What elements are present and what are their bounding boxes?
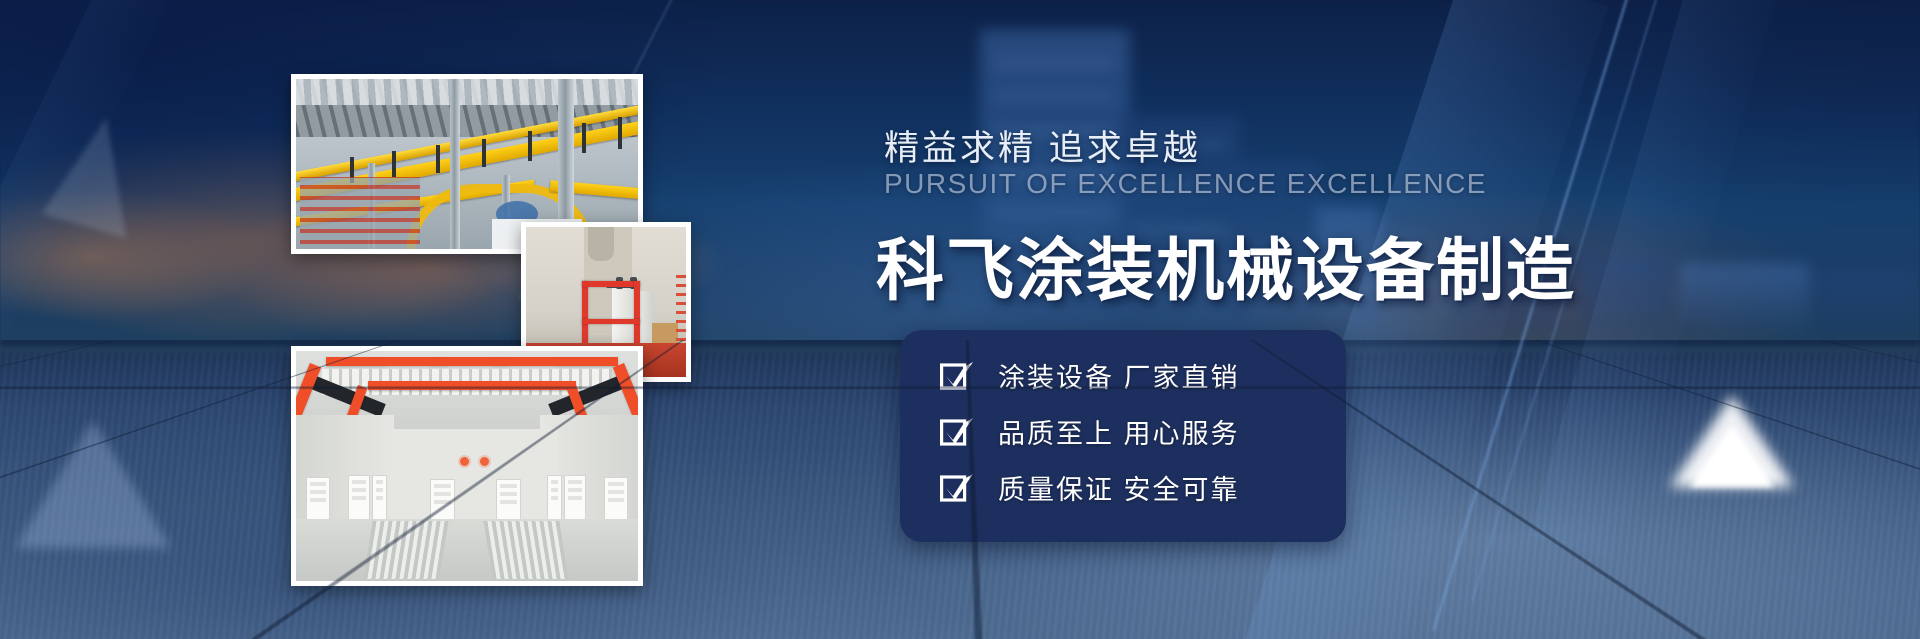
- feature-label: 涂装设备 厂家直销: [998, 356, 1240, 395]
- slogan-english: PURSUIT OF EXCELLENCE EXCELLENCE: [884, 168, 1487, 200]
- feature-card: 涂装设备 厂家直销 品质至上 用心服务 质量保证 安全可靠: [900, 330, 1346, 542]
- checkbox-checked-icon: [940, 359, 974, 393]
- photo-booth: [291, 346, 643, 586]
- checkbox-checked-icon: [940, 471, 974, 505]
- headline-chinese: 科飞涂装机械设备制造: [876, 215, 1576, 314]
- feature-item: 涂装设备 厂家直销: [940, 356, 1240, 395]
- promo-banner: 精益求精 追求卓越 PURSUIT OF EXCELLENCE EXCELLEN…: [0, 0, 1920, 639]
- feature-item: 质量保证 安全可靠: [940, 468, 1240, 507]
- slogan-chinese: 精益求精 追求卓越: [884, 120, 1201, 171]
- feature-label: 品质至上 用心服务: [998, 412, 1240, 451]
- feature-label: 质量保证 安全可靠: [998, 468, 1240, 507]
- checkbox-checked-icon: [940, 415, 974, 449]
- feature-item: 品质至上 用心服务: [940, 412, 1240, 451]
